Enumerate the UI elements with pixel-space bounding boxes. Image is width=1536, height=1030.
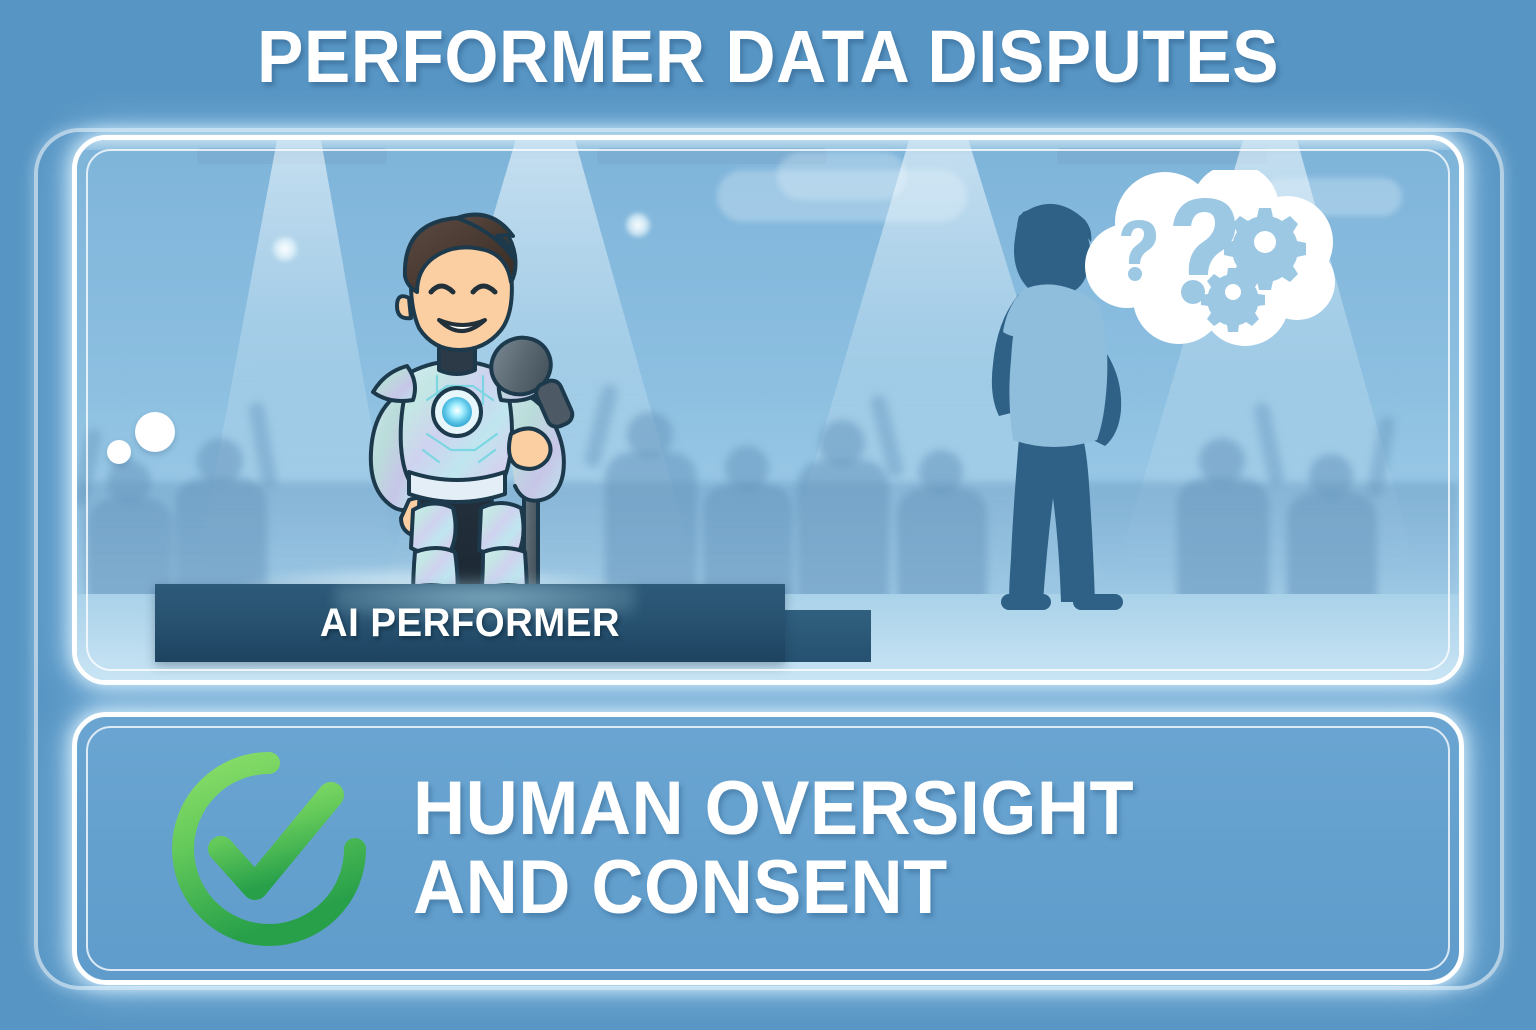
stage-platform: AI PERFORMER bbox=[155, 584, 785, 662]
headline-line-1: HUMAN OVERSIGHT bbox=[413, 766, 1134, 851]
stage-scene-panel: AI PERFORMER bbox=[72, 135, 1464, 685]
thought-bubble-dot bbox=[135, 412, 175, 452]
headline-line-2: AND CONSENT bbox=[413, 849, 1134, 927]
gear-icon bbox=[1201, 268, 1265, 332]
thought-bubble-dot bbox=[107, 440, 131, 464]
infographic-root: PERFORMER DATA DISPUTES bbox=[0, 0, 1536, 1030]
truss-segment bbox=[1057, 148, 1267, 164]
crowd-torso bbox=[797, 460, 889, 606]
check-circle-icon bbox=[169, 749, 369, 949]
crowd-arm bbox=[248, 401, 279, 488]
stage-lamp bbox=[272, 236, 298, 262]
audience-crowd bbox=[77, 342, 1459, 602]
ai-performer-character bbox=[305, 180, 625, 620]
platform-label: AI PERFORMER bbox=[168, 584, 773, 662]
panel-headline: HUMAN OVERSIGHT AND CONSENT bbox=[413, 770, 1134, 927]
ambient-cloud bbox=[777, 152, 907, 200]
message-panel: HUMAN OVERSIGHT AND CONSENT bbox=[72, 712, 1464, 985]
thought-bubble bbox=[1069, 170, 1359, 360]
stage-scene: AI PERFORMER bbox=[77, 140, 1459, 680]
stage-lamp bbox=[625, 212, 651, 238]
stage-platform-step bbox=[785, 610, 871, 662]
crowd-arm bbox=[1252, 401, 1285, 486]
crowd-torso bbox=[1287, 492, 1377, 608]
crowd-torso bbox=[1177, 478, 1269, 608]
page-title: PERFORMER DATA DISPUTES bbox=[46, 20, 1490, 94]
